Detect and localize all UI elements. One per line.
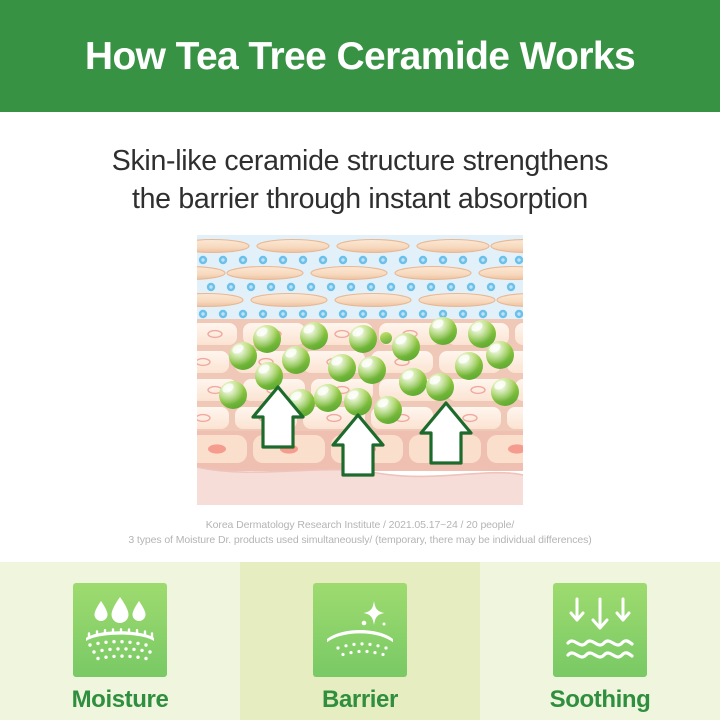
subtitle-line-2: the barrier through instant absorption	[0, 180, 720, 218]
ceramide-sphere	[314, 384, 342, 412]
moisture-icon	[73, 583, 167, 677]
ceramide-sphere	[253, 325, 281, 353]
skin-cross-section-illustration	[197, 235, 523, 505]
feature-panel-moisture: Moisture	[0, 562, 240, 720]
ceramide-sphere	[380, 332, 392, 344]
feature-panel-barrier: Barrier	[240, 562, 480, 720]
wave-lines	[568, 641, 632, 657]
barrier-icon	[313, 583, 407, 677]
study-caption: Korea Dermatology Research Institute / 2…	[0, 518, 720, 548]
page-title: How Tea Tree Ceramide Works	[85, 37, 635, 76]
ceramide-sphere	[282, 346, 310, 374]
ceramide-sphere	[374, 396, 402, 424]
ceramide-sphere	[349, 325, 377, 353]
ceramide-sphere	[328, 354, 356, 382]
ceramide-sphere	[486, 341, 514, 369]
feature-panel-soothing: Soothing	[480, 562, 720, 720]
feature-label-soothing: Soothing	[550, 688, 651, 712]
feature-panels: Moisture Barrier	[0, 562, 720, 720]
caption-line-1: Korea Dermatology Research Institute / 2…	[0, 518, 720, 533]
subtitle-line-1: Skin-like ceramide structure strengthens	[0, 142, 720, 180]
caption-line-2: 3 types of Moisture Dr. products used si…	[0, 533, 720, 548]
page-header: How Tea Tree Ceramide Works	[0, 0, 720, 112]
ceramide-sphere	[429, 317, 457, 345]
subtitle-block: Skin-like ceramide structure strengthens…	[0, 112, 720, 218]
sparkle-icon	[362, 601, 386, 626]
soothing-icon	[553, 583, 647, 677]
ceramide-sphere	[491, 378, 519, 406]
feature-label-barrier: Barrier	[322, 688, 398, 712]
skin-diagram-container	[0, 235, 720, 505]
ceramide-sphere	[229, 342, 257, 370]
ceramide-sphere	[455, 352, 483, 380]
ceramide-sphere	[219, 381, 247, 409]
down-arrow-icon	[571, 599, 629, 628]
ceramide-sphere	[358, 356, 386, 384]
ceramide-sphere	[344, 388, 372, 416]
ceramide-sphere	[392, 333, 420, 361]
ceramide-sphere	[300, 322, 328, 350]
feature-label-moisture: Moisture	[72, 688, 169, 712]
ceramide-sphere	[399, 368, 427, 396]
ceramide-sphere	[426, 373, 454, 401]
